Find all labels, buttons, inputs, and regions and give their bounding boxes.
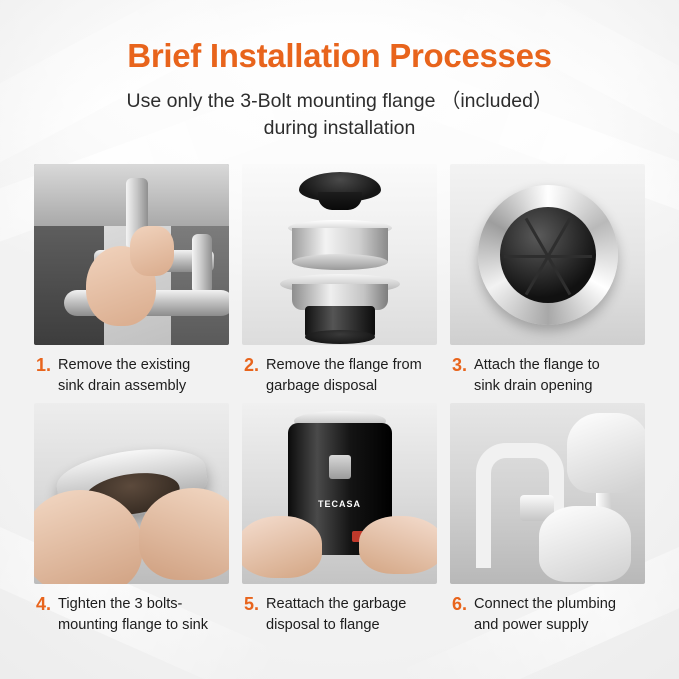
photo-gloved-hand-top <box>567 413 645 493</box>
step-text-6-line-2: and power supply <box>474 617 588 633</box>
step-card-4: 4. Tighten the 3 bolts- mounting flange … <box>34 403 229 636</box>
step-text-5-line-2: disposal to flange <box>266 617 380 633</box>
page-title: Brief Installation Processes <box>34 0 645 76</box>
photo-pipe-vertical-2 <box>192 234 212 294</box>
photo-splash-guard-stem <box>318 192 362 210</box>
photo-hand-left <box>242 516 322 578</box>
step-text-1: Remove the existing sink drain assembly <box>58 355 190 397</box>
step-caption-4: 4. Tighten the 3 bolts- mounting flange … <box>34 594 229 636</box>
step-number-3: 3. <box>452 355 467 376</box>
step-text-1-line-2: sink drain assembly <box>58 378 186 394</box>
step-caption-6: 6. Connect the plumbing and power supply <box>450 594 645 636</box>
step-card-5: TECASA 5. Reattach the garbage disposal … <box>242 403 437 636</box>
photo-disposal-neck-base <box>305 330 375 344</box>
photo-flange-blade <box>548 255 592 258</box>
step-text-1-line-1: Remove the existing <box>58 357 190 373</box>
photo-hand-right <box>359 516 437 574</box>
content-area: Brief Installation Processes Use only th… <box>0 0 679 636</box>
subtitle-line-1: Use only the 3-Bolt mounting flange （inc… <box>80 88 600 115</box>
step-text-4-line-1: Tighten the 3 bolts- <box>58 596 182 612</box>
step-number-2: 2. <box>244 355 259 376</box>
step-caption-1: 1. Remove the existing sink drain assemb… <box>34 355 229 397</box>
step-text-6: Connect the plumbing and power supply <box>474 594 616 636</box>
infographic-page: Brief Installation Processes Use only th… <box>0 0 679 679</box>
page-subtitle: Use only the 3-Bolt mounting flange （inc… <box>80 88 600 142</box>
photo-hand-2 <box>130 226 174 276</box>
step-text-3-line-1: Attach the flange to <box>474 357 600 373</box>
steps-grid: 1. Remove the existing sink drain assemb… <box>34 164 645 636</box>
step-caption-3: 3. Attach the flange to sink drain openi… <box>450 355 645 397</box>
step-caption-2: 2. Remove the flange from garbage dispos… <box>242 355 437 397</box>
step-card-3: 3. Attach the flange to sink drain openi… <box>450 164 645 397</box>
step-card-6: 6. Connect the plumbing and power supply <box>450 403 645 636</box>
step-number-4: 4. <box>36 594 51 615</box>
photo-disposal-badge <box>329 455 351 479</box>
step-card-1: 1. Remove the existing sink drain assemb… <box>34 164 229 397</box>
under-sink-drain-assembly-photo <box>34 164 229 345</box>
step-text-2-line-1: Remove the flange from <box>266 357 422 373</box>
garbage-disposal-unit-photo: TECASA <box>242 403 437 584</box>
subtitle-line-2: during installation <box>80 115 600 142</box>
photo-gloved-hand-bottom <box>539 506 631 582</box>
step-number-1: 1. <box>36 355 51 376</box>
step-number-5: 5. <box>244 594 259 615</box>
flange-top-view-photo <box>450 164 645 345</box>
step-number-6: 6. <box>452 594 467 615</box>
step-text-5: Reattach the garbage disposal to flange <box>266 594 406 636</box>
step-text-5-line-1: Reattach the garbage <box>266 596 406 612</box>
step-text-2-line-2: garbage disposal <box>266 378 377 394</box>
step-caption-5: 5. Reattach the garbage disposal to flan… <box>242 594 437 636</box>
photo-strainer-base <box>292 254 388 270</box>
step-text-3-line-2: sink drain opening <box>474 378 592 394</box>
step-card-2: 2. Remove the flange from garbage dispos… <box>242 164 437 397</box>
step-text-4-line-2: mounting flange to sink <box>58 617 208 633</box>
step-text-6-line-1: Connect the plumbing <box>474 596 616 612</box>
step-text-2: Remove the flange from garbage disposal <box>266 355 422 397</box>
exploded-flange-parts-photo <box>242 164 437 345</box>
hands-tightening-flange-photo <box>34 403 229 584</box>
step-text-4: Tighten the 3 bolts- mounting flange to … <box>58 594 208 636</box>
step-text-3: Attach the flange to sink drain opening <box>474 355 600 397</box>
gloved-hands-plumbing-photo <box>450 403 645 584</box>
photo-brand-label: TECASA <box>318 499 361 509</box>
photo-flange-blade <box>504 255 548 258</box>
